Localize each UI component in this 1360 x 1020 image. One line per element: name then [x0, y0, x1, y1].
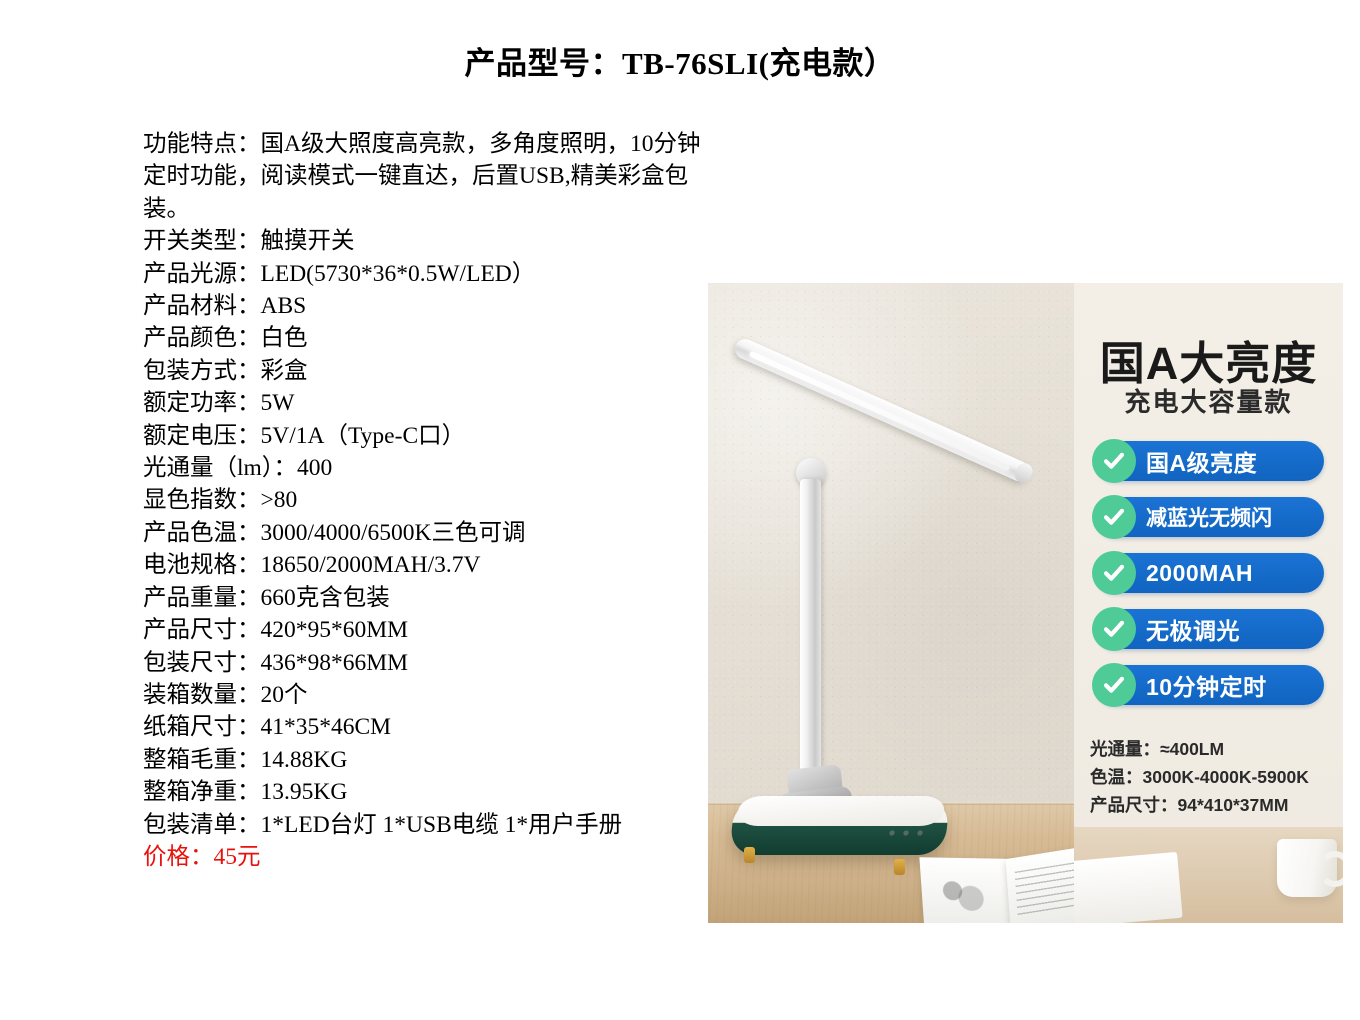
check-icon [1092, 607, 1136, 651]
spec-line-carton-qty: 装箱数量：20个 [143, 679, 703, 711]
spec-line-light-source: 产品光源：LED(5730*36*0.5W/LED） [143, 258, 703, 290]
feature-badge-label: 无极调光 [1146, 612, 1248, 646]
page-title: 产品型号：TB-76SLI(充电款） [0, 38, 1360, 83]
spec-line-package-size: 包装尺寸：436*98*66MM [143, 647, 703, 679]
spec-line-carton-size: 纸箱尺寸：41*35*46CM [143, 711, 703, 743]
promo-book-backdrop [1074, 852, 1183, 923]
spec-line-switch-type: 开关类型：触摸开关 [143, 225, 703, 257]
product-promo-image: 国A大亮度 充电大容量款 国A级亮度 减蓝光无频闪 2000MAH [708, 283, 1343, 923]
lamp-foot-rear [894, 859, 905, 875]
spec-line-color-temp: 产品色温：3000/4000/6500K三色可调 [143, 517, 703, 549]
spec-line-packaging-type: 包装方式：彩盒 [143, 355, 703, 387]
check-icon [1092, 551, 1136, 595]
spec-line-material: 产品材料：ABS [143, 290, 703, 322]
spec-line-luminous-flux: 光通量（lm）：400 [143, 452, 703, 484]
feature-badge-label: 10分钟定时 [1146, 668, 1275, 702]
feature-badge-label: 2000MAH [1146, 560, 1261, 587]
check-icon [1092, 439, 1136, 483]
feature-badge: 无极调光 [1096, 609, 1324, 649]
lamp-foot-front [744, 847, 755, 863]
spec-line-product-size: 产品尺寸：420*95*60MM [143, 614, 703, 646]
product-photo [708, 283, 1074, 923]
feature-badge-label: 国A级亮度 [1146, 444, 1265, 478]
spec-line-cri: 显色指数：>80 [143, 484, 703, 516]
feature-badge-label: 减蓝光无频闪 [1146, 502, 1280, 532]
spec-line-features: 功能特点：国A级大照度高亮款，多角度照明，10分钟定时功能，阅读模式一键直达，后… [143, 128, 703, 225]
book-illustration [935, 874, 994, 915]
promo-mug-backdrop [1277, 839, 1337, 897]
spec-line-net-weight: 整箱净重：13.95KG [143, 776, 703, 808]
feature-badge: 10分钟定时 [1096, 665, 1324, 705]
promo-subtitle: 充电大容量款 [1074, 382, 1343, 419]
spec-line-color: 产品颜色：白色 [143, 322, 703, 354]
spec-line-battery: 电池规格：18650/2000MAH/3.7V [143, 549, 703, 581]
feature-badge: 减蓝光无频闪 [1096, 497, 1324, 537]
spec-line-gross-weight: 整箱毛重：14.88KG [143, 744, 703, 776]
promo-spec-dimensions: 产品尺寸：94*410*37MM [1090, 791, 1342, 819]
check-icon [1092, 663, 1136, 707]
promo-text-pane: 国A大亮度 充电大容量款 国A级亮度 减蓝光无频闪 2000MAH [1074, 283, 1343, 923]
promo-spec-luminous-flux: 光通量：≈400LM [1090, 735, 1342, 763]
spec-line-price: 价格：45元 [143, 841, 703, 873]
feature-badge: 国A级亮度 [1096, 441, 1324, 481]
promo-feature-badges: 国A级亮度 减蓝光无频闪 2000MAH 无极调光 [1096, 441, 1324, 721]
feature-badge: 2000MAH [1096, 553, 1324, 593]
check-icon [1092, 495, 1136, 539]
promo-spec-list: 光通量：≈400LM 色温：3000K-4000K-5900K 产品尺寸：94*… [1090, 735, 1342, 819]
spec-line-weight: 产品重量：660克含包装 [143, 582, 703, 614]
touch-control-icons [885, 828, 926, 838]
specification-list: 功能特点：国A级大照度高亮款，多角度照明，10分钟定时功能，阅读模式一键直达，后… [143, 128, 703, 873]
spec-line-packing-list: 包装清单：1*LED台灯 1*USB电缆 1*用户手册 [143, 809, 703, 841]
lamp-arm [800, 479, 821, 779]
spec-line-rated-power: 额定功率：5W [143, 387, 703, 419]
promo-spec-color-temp: 色温：3000K-4000K-5900K [1090, 763, 1342, 791]
open-book [920, 849, 1074, 923]
lamp-base-top [736, 796, 946, 826]
spec-line-rated-voltage: 额定电压：5V/1A（Type-C口） [143, 420, 703, 452]
